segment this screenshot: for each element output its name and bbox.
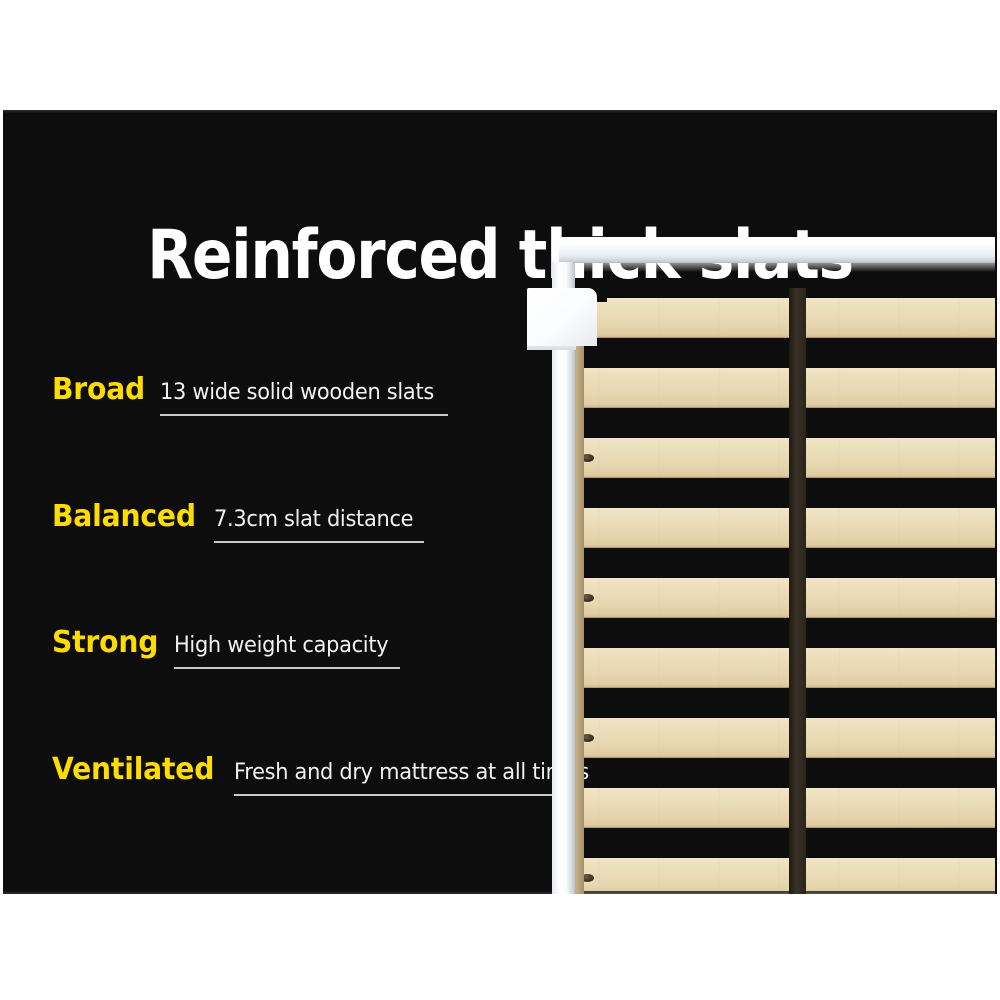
product-feature-image: Reinforced thick slats Broad 13 wide sol… [0, 0, 1000, 1000]
corner-post-leg [552, 262, 575, 894]
corner-post-cap [527, 288, 597, 346]
wooden-slat [572, 298, 997, 338]
wooden-slat [572, 438, 997, 478]
wooden-slat [572, 508, 997, 548]
wooden-slat [572, 788, 997, 828]
top-side-rail [559, 237, 997, 263]
panel-right-edge [995, 110, 997, 894]
wooden-slat [572, 718, 997, 758]
centre-support-beam [789, 288, 806, 894]
bed-frame-photo [3, 110, 997, 894]
rail-shadow [569, 263, 997, 272]
cap-notch [597, 288, 607, 302]
wooden-slat [572, 368, 997, 408]
black-feature-panel: Reinforced thick slats Broad 13 wide sol… [3, 110, 997, 894]
wooden-slat [572, 858, 997, 894]
wooden-slat [572, 648, 997, 688]
wooden-slat [572, 578, 997, 618]
slat-base [572, 288, 997, 894]
